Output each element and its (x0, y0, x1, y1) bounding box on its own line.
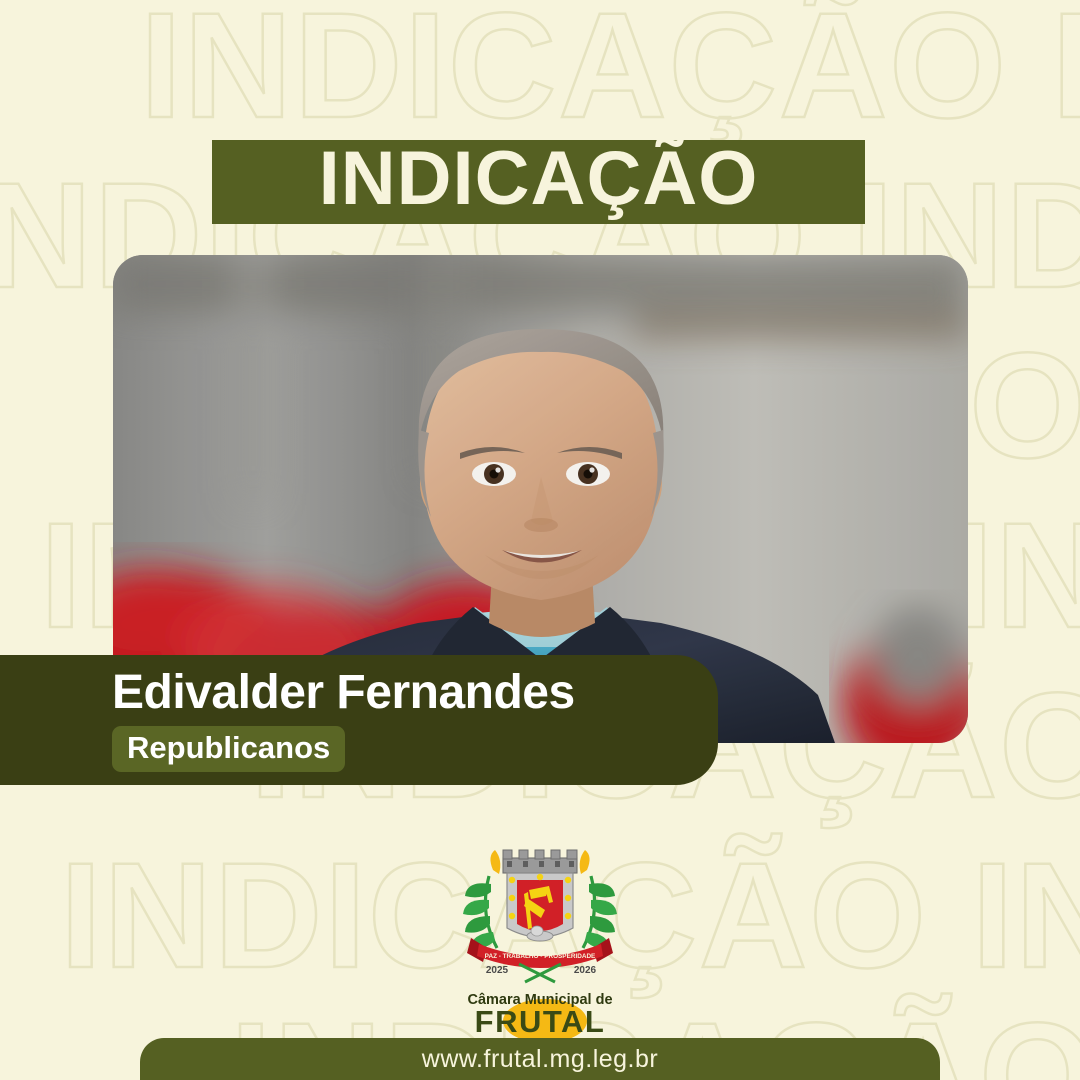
camara-logo: PAZ - TRABALHO - PROSPERIDADE 2025 2026 … (0, 840, 1080, 1055)
year-left: 2025 (486, 965, 509, 976)
mural-crown (503, 850, 577, 873)
year-right: 2026 (574, 965, 597, 976)
coat-of-arms-icon: PAZ - TRABALHO - PROSPERIDADE 2025 2026 (445, 840, 635, 985)
party-badge: Republicanos (112, 726, 345, 772)
councilor-name: Edivalder Fernandes (112, 668, 718, 718)
wordmark-line2: FRUTAL (475, 1004, 606, 1039)
website-url[interactable]: www.frutal.mg.leg.br (422, 1045, 658, 1074)
name-banner: Edivalder Fernandes Republicanos (0, 655, 718, 785)
footer-bar: www.frutal.mg.leg.br (140, 1038, 940, 1080)
watermark-row: INDICAÇÃO INDICAÇÃO (140, 0, 1080, 140)
ribbon-text: PAZ - TRABALHO - PROSPERIDADE (485, 953, 596, 960)
page-title: INDICAÇÃO (319, 141, 759, 217)
indicacao-title-banner: INDICAÇÃO (212, 140, 865, 224)
